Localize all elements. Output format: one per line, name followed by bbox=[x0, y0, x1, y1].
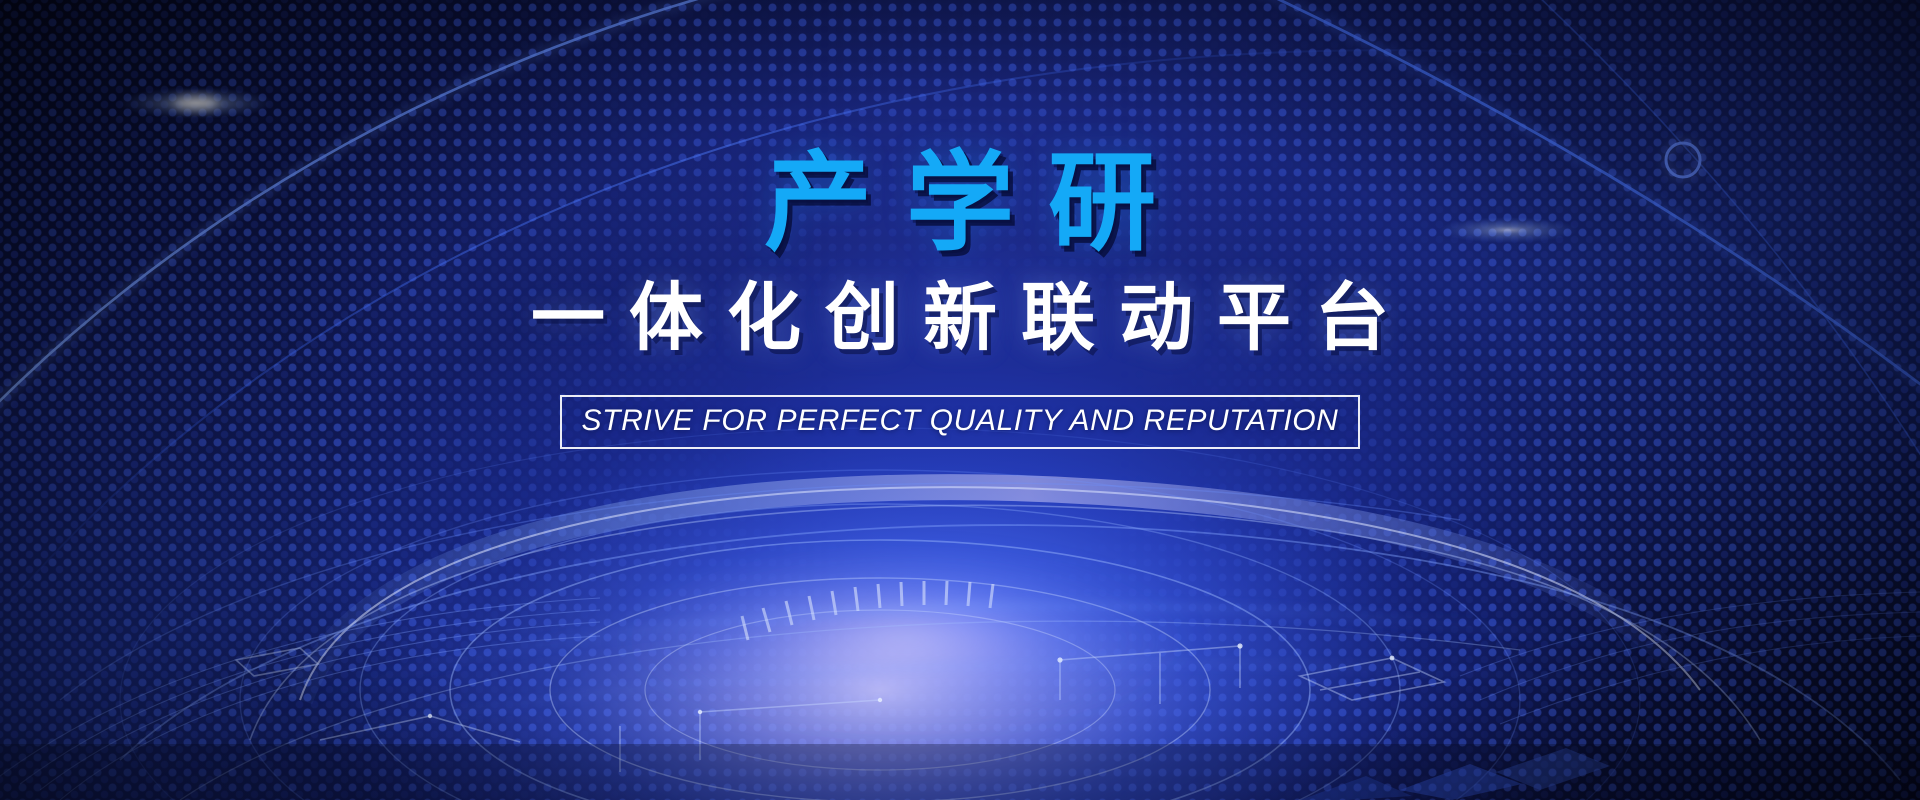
banner-subtitle: 一体化创新联动平台 bbox=[507, 280, 1413, 357]
banner-title: 产学研 bbox=[730, 148, 1190, 258]
tagline-box: STRIVE FOR PERFECT QUALITY AND REPUTATIO… bbox=[560, 395, 1361, 449]
banner-tagline: STRIVE FOR PERFECT QUALITY AND REPUTATIO… bbox=[582, 404, 1339, 438]
hero-banner: 产学研 一体化创新联动平台 STRIVE FOR PERFECT QUALITY… bbox=[0, 0, 1920, 800]
banner-content: 产学研 一体化创新联动平台 STRIVE FOR PERFECT QUALITY… bbox=[0, 0, 1920, 800]
